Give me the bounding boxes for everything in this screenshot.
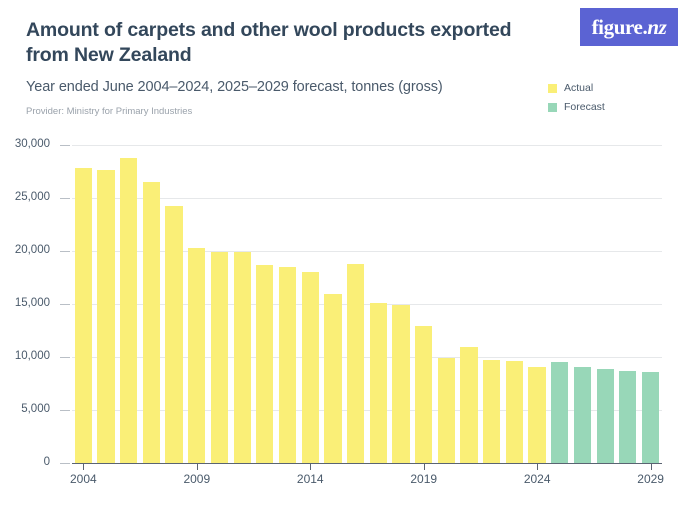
bar-slot (72, 145, 95, 463)
bar-slot (390, 145, 413, 463)
x-axis-tick-label: 2004 (53, 472, 113, 486)
x-tick-mark (310, 463, 311, 470)
bar-slot (480, 145, 503, 463)
x-axis: 200420092014201920242029 (72, 463, 662, 503)
bar-slot (594, 145, 617, 463)
bar-2028[interactable] (619, 371, 636, 463)
y-tick-mark (60, 357, 70, 358)
bar-2013[interactable] (279, 267, 296, 463)
bar-slot (299, 145, 322, 463)
bar-2027[interactable] (597, 369, 614, 463)
bar-slot (208, 145, 231, 463)
y-tick-mark (60, 304, 70, 305)
bar-2016[interactable] (347, 264, 364, 463)
bar-slot (617, 145, 640, 463)
bar-slot (367, 145, 390, 463)
bar-2022[interactable] (483, 360, 500, 463)
bar-slot (571, 145, 594, 463)
bar-slot (140, 145, 163, 463)
x-axis-tick-label: 2024 (507, 472, 567, 486)
bar-2017[interactable] (370, 303, 387, 463)
x-tick-mark (424, 463, 425, 470)
x-axis-tick-label: 2009 (167, 472, 227, 486)
bar-2021[interactable] (460, 347, 477, 463)
bar-slot (412, 145, 435, 463)
y-axis-tick-label: 15,000 (0, 297, 50, 309)
bar-2012[interactable] (256, 265, 273, 463)
bar-2029[interactable] (642, 372, 659, 463)
bar-2011[interactable] (234, 252, 251, 463)
bar-2024[interactable] (528, 367, 545, 463)
x-axis-tick-label: 2014 (280, 472, 340, 486)
bar-slot (503, 145, 526, 463)
bar-slot (185, 145, 208, 463)
bar-slot (231, 145, 254, 463)
bar-2007[interactable] (143, 182, 160, 463)
bar-2014[interactable] (302, 272, 319, 463)
bar-slot (639, 145, 662, 463)
bar-slot (526, 145, 549, 463)
bar-slot (163, 145, 186, 463)
bar-slot (344, 145, 367, 463)
bar-2005[interactable] (97, 170, 114, 463)
bar-slot (435, 145, 458, 463)
x-axis-tick-label: 2019 (394, 472, 454, 486)
y-axis-tick-label: 0 (0, 456, 50, 468)
y-axis-tick-label: 25,000 (0, 191, 50, 203)
bar-series-container (72, 145, 662, 463)
bar-slot (458, 145, 481, 463)
y-tick-mark (60, 145, 70, 146)
y-tick-mark (60, 463, 70, 464)
y-axis-tick-label: 10,000 (0, 350, 50, 362)
bar-2018[interactable] (392, 305, 409, 463)
y-tick-mark (60, 410, 70, 411)
bar-slot (322, 145, 345, 463)
bar-2019[interactable] (415, 326, 432, 463)
x-axis-tick-label: 2029 (621, 472, 681, 486)
chart-plot: 05,00010,00015,00020,00025,00030,000 200… (0, 0, 700, 525)
chart-page: Amount of carpets and other wool product… (0, 0, 700, 525)
bar-slot (254, 145, 277, 463)
bar-2015[interactable] (324, 294, 341, 463)
bar-2020[interactable] (438, 358, 455, 463)
x-tick-mark (651, 463, 652, 470)
y-tick-mark (60, 251, 70, 252)
bar-2008[interactable] (165, 206, 182, 463)
bar-2006[interactable] (120, 158, 137, 463)
bar-2009[interactable] (188, 248, 205, 463)
bar-slot (95, 145, 118, 463)
x-tick-mark (537, 463, 538, 470)
y-axis-tick-label: 20,000 (0, 244, 50, 256)
bar-2010[interactable] (211, 252, 228, 463)
bar-slot (276, 145, 299, 463)
bar-slot (117, 145, 140, 463)
y-axis-tick-label: 30,000 (0, 138, 50, 150)
bar-2025[interactable] (551, 362, 568, 463)
y-axis-tick-label: 5,000 (0, 403, 50, 415)
bar-2026[interactable] (574, 367, 591, 463)
bar-slot (548, 145, 571, 463)
x-tick-mark (197, 463, 198, 470)
y-tick-mark (60, 198, 70, 199)
bar-2004[interactable] (75, 168, 92, 463)
bar-2023[interactable] (506, 361, 523, 463)
x-tick-mark (83, 463, 84, 470)
